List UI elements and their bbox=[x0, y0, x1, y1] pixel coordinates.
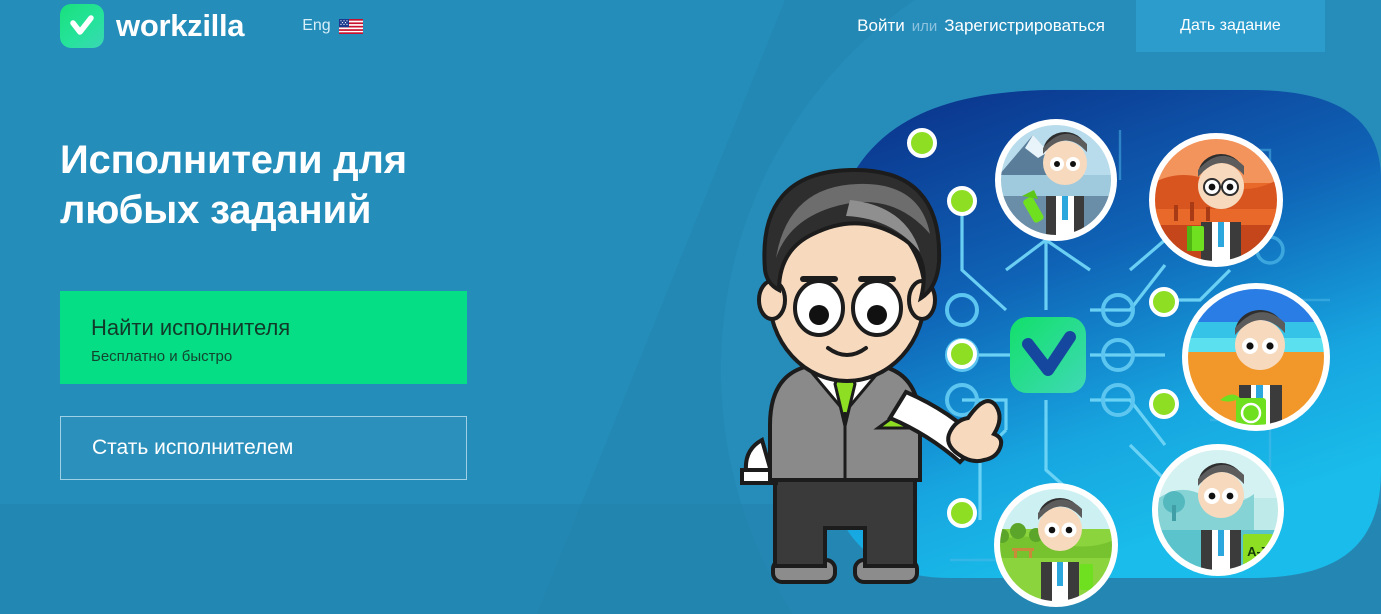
post-task-button[interactable]: Дать задание bbox=[1136, 0, 1325, 52]
login-link[interactable]: Войти bbox=[857, 16, 905, 36]
find-performer-button[interactable]: Найти исполнителя Бесплатно и быстро bbox=[60, 291, 467, 384]
hero-illustration: A-Z bbox=[650, 0, 1381, 614]
center-badge-icon bbox=[1010, 317, 1086, 393]
hero-title-line-1: Исполнители для bbox=[60, 138, 407, 182]
page-title: Исполнители для любых заданий bbox=[60, 136, 530, 235]
language-switcher[interactable]: Eng bbox=[302, 17, 362, 35]
register-link[interactable]: Зарегистрироваться bbox=[944, 16, 1105, 36]
find-performer-subtitle: Бесплатно и быстро bbox=[91, 348, 467, 365]
find-performer-label: Найти исполнителя bbox=[91, 316, 467, 340]
logo[interactable]: workzilla bbox=[60, 4, 244, 48]
avatar-designer-pen bbox=[996, 120, 1116, 240]
avatar-field-worker bbox=[995, 484, 1117, 606]
avatar-support-phone bbox=[1183, 284, 1329, 430]
us-flag-icon bbox=[339, 19, 363, 34]
logo-text: workzilla bbox=[116, 8, 244, 44]
avatar-writer-book bbox=[1150, 134, 1282, 266]
avatar-translator-az: A-Z bbox=[1153, 445, 1283, 575]
become-performer-button[interactable]: Стать исполнителем bbox=[60, 416, 467, 480]
auth-links: Войти или Зарегистрироваться bbox=[857, 16, 1105, 36]
hero-section: Исполнители для любых заданий Найти испо… bbox=[60, 136, 530, 480]
language-label: Eng bbox=[302, 17, 330, 35]
site-header: workzilla Eng Войти или За bbox=[0, 0, 1381, 52]
become-performer-label: Стать исполнителем bbox=[92, 436, 293, 460]
green-folder-icon bbox=[1080, 564, 1093, 590]
auth-separator: или bbox=[912, 18, 938, 35]
workzilla-check-logo-icon bbox=[60, 4, 104, 48]
hero-title-line-2: любых заданий bbox=[60, 188, 371, 232]
